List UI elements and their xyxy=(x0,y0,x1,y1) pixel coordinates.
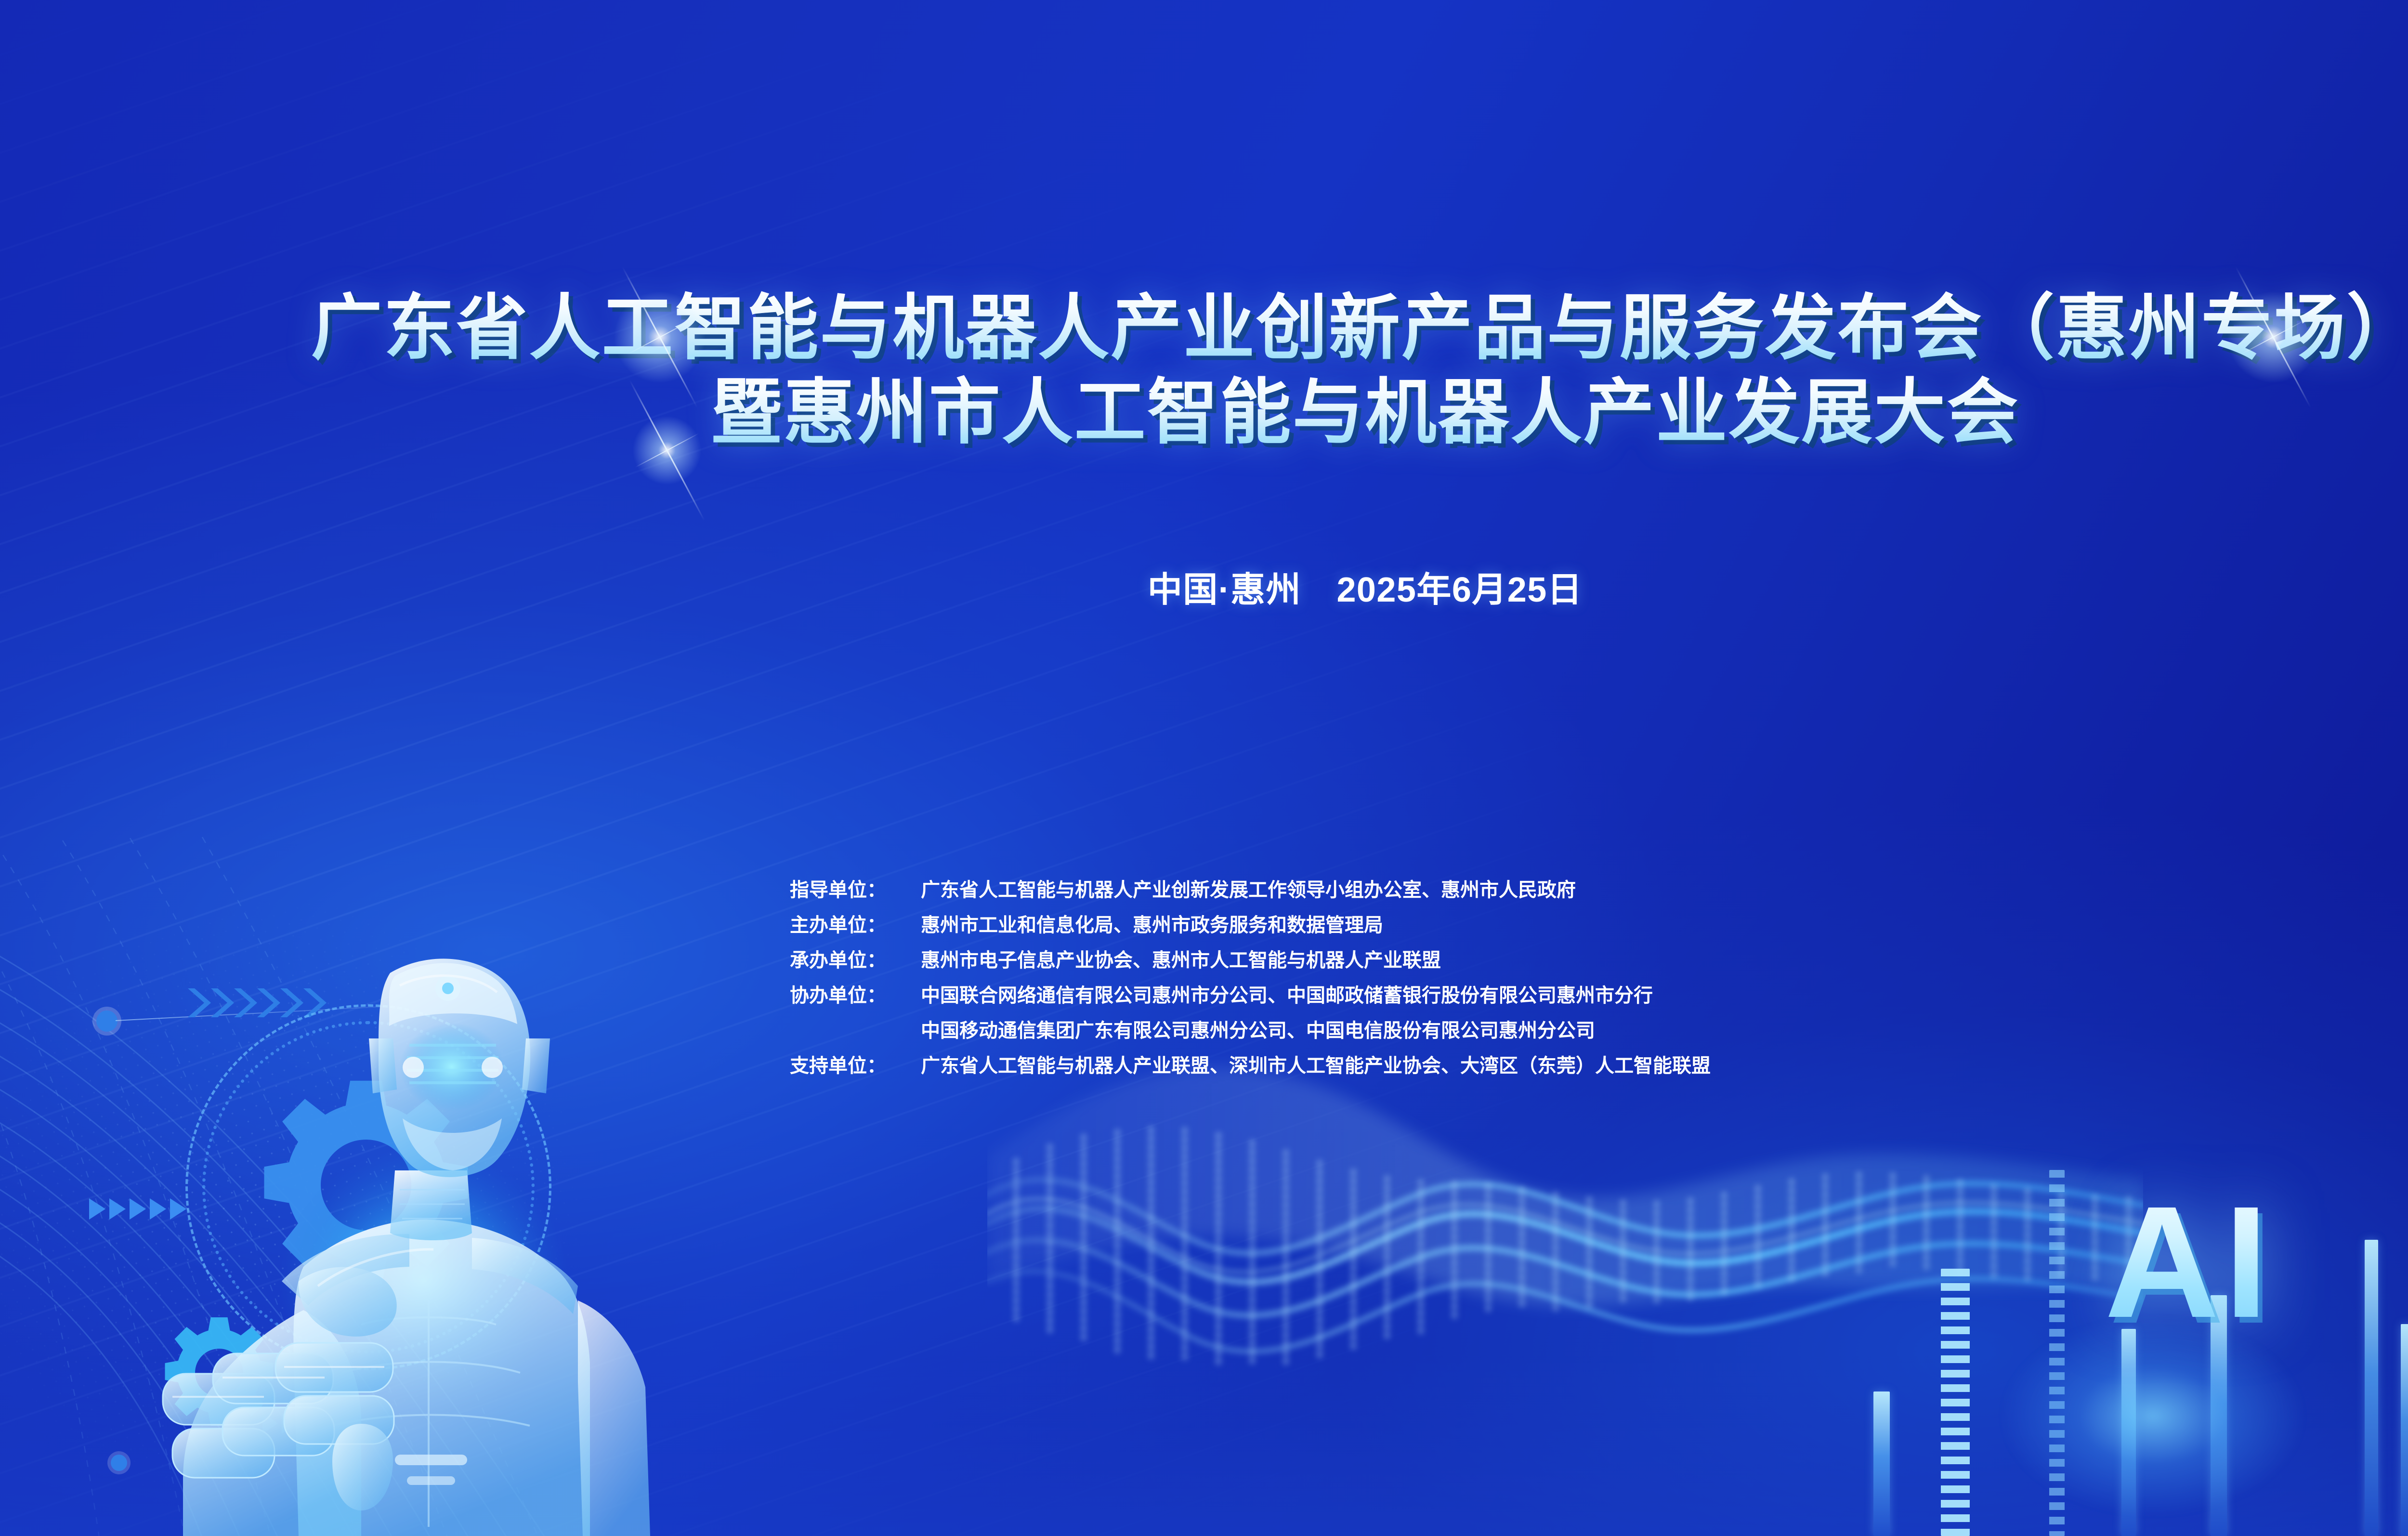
sponsor-label: 承办单位： xyxy=(790,951,921,970)
sponsor-row: 主办单位：惠州市工业和信息化局、惠州市政务服务和数据管理局 xyxy=(790,916,1711,935)
equalizer-and-ai-logo: AI xyxy=(1854,939,2408,1536)
equalizer-bar xyxy=(1941,1269,1970,1536)
sponsor-row: —中国移动通信集团广东有限公司惠州分公司、中国电信股份有限公司惠州分公司 xyxy=(790,1021,1711,1040)
title-line-2: 暨惠州市人工智能与机器人产业发展大会 xyxy=(0,371,2408,455)
sponsor-list: 指导单位：广东省人工智能与机器人产业创新发展工作领导小组办公室、惠州市人民政府主… xyxy=(790,880,1711,1076)
sponsor-row: 承办单位：惠州市电子信息产业协会、惠州市人工智能与机器人产业联盟 xyxy=(790,951,1711,970)
sponsor-value: 广东省人工智能与机器人产业创新发展工作领导小组办公室、惠州市人民政府 xyxy=(921,880,1576,900)
sponsor-value: 中国移动通信集团广东有限公司惠州分公司、中国电信股份有限公司惠州分公司 xyxy=(921,1021,1595,1040)
sponsor-row: 支持单位：广东省人工智能与机器人产业联盟、深圳市人工智能产业协会、大湾区（东莞）… xyxy=(790,1056,1711,1076)
subtitle-location-date: 中国·惠州 2025年6月25日 xyxy=(0,561,2408,612)
title-block: 广东省人工智能与机器人产业创新产品与服务发布会（惠州专场） 暨惠州市人工智能与机… xyxy=(0,287,2408,455)
equalizer-bar xyxy=(1873,1392,1890,1536)
sponsor-label: 支持单位： xyxy=(790,1056,921,1076)
sponsor-label: 主办单位： xyxy=(790,916,921,935)
equalizer-bar xyxy=(2401,1324,2408,1536)
sponsor-value: 惠州市电子信息产业协会、惠州市人工智能与机器人产业联盟 xyxy=(921,951,1441,970)
robot-illustration xyxy=(63,901,698,1536)
sponsor-value: 中国联合网络通信有限公司惠州市分公司、中国邮政储蓄银行股份有限公司惠州市分行 xyxy=(921,986,1653,1005)
robot-figure-icon xyxy=(92,901,660,1536)
sponsor-row: 协办单位：中国联合网络通信有限公司惠州市分公司、中国邮政储蓄银行股份有限公司惠州… xyxy=(790,986,1711,1005)
conference-banner: AI 广东省人工智能与机器人产业创新产品与服务发布会（惠州专场） 暨惠州市人工智… xyxy=(0,0,2408,1536)
sponsor-value: 惠州市工业和信息化局、惠州市政务服务和数据管理局 xyxy=(921,916,1383,935)
title-line-1: 广东省人工智能与机器人产业创新产品与服务发布会（惠州专场） xyxy=(0,287,2408,371)
sponsor-row: 指导单位：广东省人工智能与机器人产业创新发展工作领导小组办公室、惠州市人民政府 xyxy=(790,880,1711,900)
sponsor-label: 协办单位： xyxy=(790,986,921,1005)
ai-logo-text: AI xyxy=(2105,1182,2273,1341)
equalizer-bar xyxy=(2365,1240,2378,1536)
sponsor-value: 广东省人工智能与机器人产业联盟、深圳市人工智能产业协会、大湾区（东莞）人工智能联… xyxy=(921,1056,1711,1076)
sponsor-label: 指导单位： xyxy=(790,880,921,900)
